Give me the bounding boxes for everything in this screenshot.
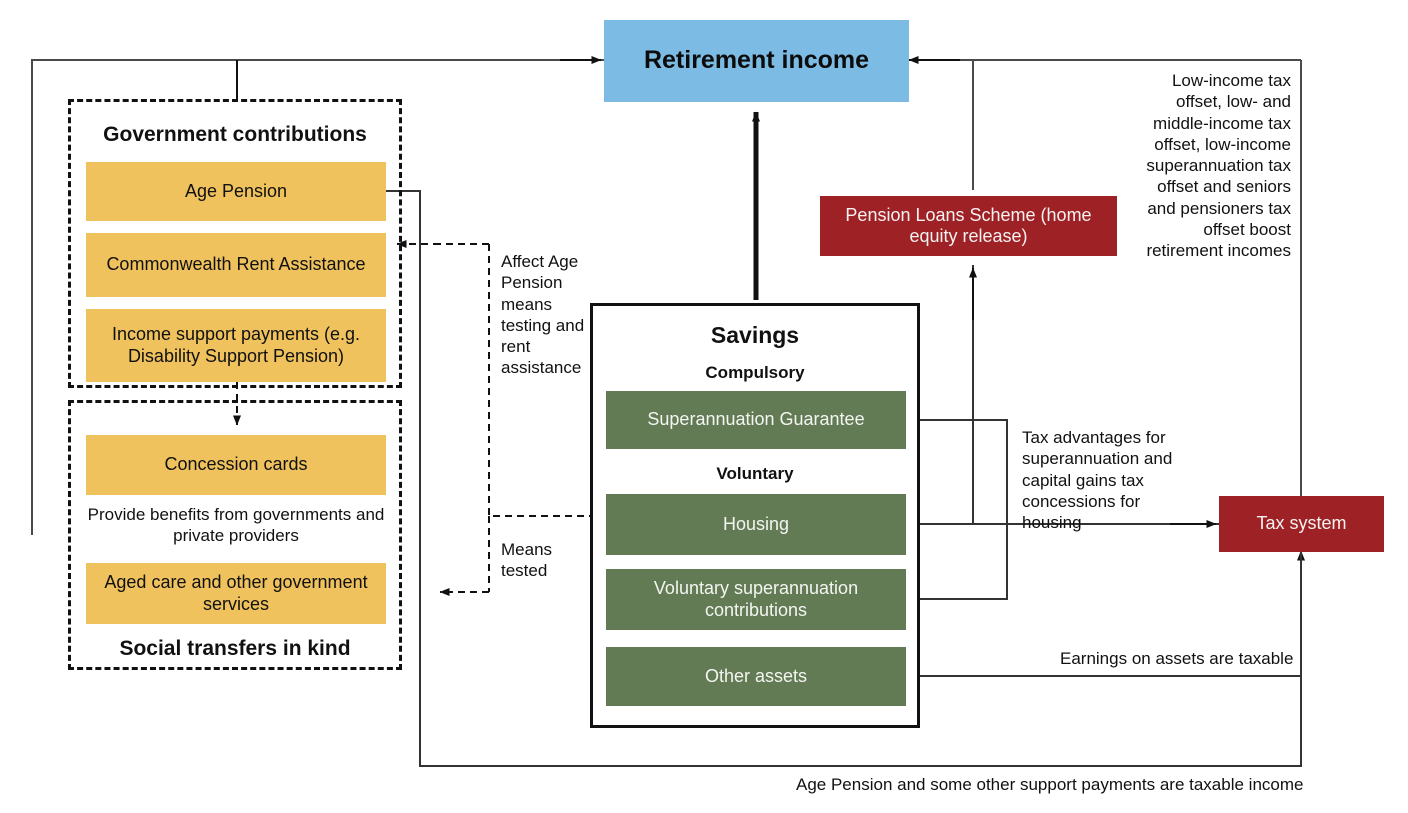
income-support-payments-box[interactable]: Income support payments (e.g. Disability…: [86, 309, 386, 382]
superannuation-guarantee-label: Superannuation Guarantee: [647, 409, 864, 430]
tax-advantages-annotation: Tax advantages for superannuation and ca…: [1022, 427, 1202, 533]
tax-system-label: Tax system: [1256, 513, 1346, 534]
housing-label: Housing: [723, 514, 789, 535]
superannuation-guarantee-box[interactable]: Superannuation Guarantee: [606, 391, 906, 449]
means-tested-annotation: Means tested: [501, 539, 581, 582]
affect-age-pension-annotation: Affect Age Pension means testing and ren…: [501, 251, 585, 379]
savings-title: Savings: [592, 320, 918, 350]
tax-system-box[interactable]: Tax system: [1219, 496, 1384, 552]
age-pension-label: Age Pension: [185, 181, 287, 202]
savings-compulsory-label: Compulsory: [592, 362, 918, 384]
tax-offsets-annotation: Low-income tax offset, low- and middle-i…: [1143, 70, 1291, 261]
social-transfers-note: Provide benefits from governments and pr…: [86, 504, 386, 547]
retirement-income-label: Retirement income: [644, 46, 869, 76]
voluntary-super-contributions-label: Voluntary superannuation contributions: [616, 578, 896, 620]
savings-voluntary-label: Voluntary: [592, 463, 918, 485]
voluntary-super-contributions-box[interactable]: Voluntary superannuation contributions: [606, 569, 906, 630]
social-transfers-title: Social transfers in kind: [72, 634, 398, 664]
housing-box[interactable]: Housing: [606, 494, 906, 555]
government-contributions-title: Government contributions: [72, 120, 398, 150]
pension-loans-scheme-label: Pension Loans Scheme (home equity releas…: [830, 205, 1107, 247]
pension-loans-scheme-box[interactable]: Pension Loans Scheme (home equity releas…: [820, 196, 1117, 256]
other-assets-box[interactable]: Other assets: [606, 647, 906, 706]
age-pension-taxable-annotation: Age Pension and some other support payme…: [796, 774, 1316, 795]
diagram-canvas: Retirement income Government contributio…: [0, 0, 1408, 813]
earnings-taxable-annotation: Earnings on assets are taxable: [1060, 648, 1310, 669]
retirement-income-box[interactable]: Retirement income: [604, 20, 909, 102]
concession-cards-label: Concession cards: [164, 454, 307, 475]
aged-care-services-box[interactable]: Aged care and other government services: [86, 563, 386, 624]
aged-care-services-label: Aged care and other government services: [96, 572, 376, 614]
age-pension-box[interactable]: Age Pension: [86, 162, 386, 221]
commonwealth-rent-assistance-label: Commonwealth Rent Assistance: [106, 254, 365, 275]
commonwealth-rent-assistance-box[interactable]: Commonwealth Rent Assistance: [86, 233, 386, 297]
income-support-payments-label: Income support payments (e.g. Disability…: [94, 324, 378, 366]
concession-cards-box[interactable]: Concession cards: [86, 435, 386, 495]
other-assets-label: Other assets: [705, 666, 807, 687]
